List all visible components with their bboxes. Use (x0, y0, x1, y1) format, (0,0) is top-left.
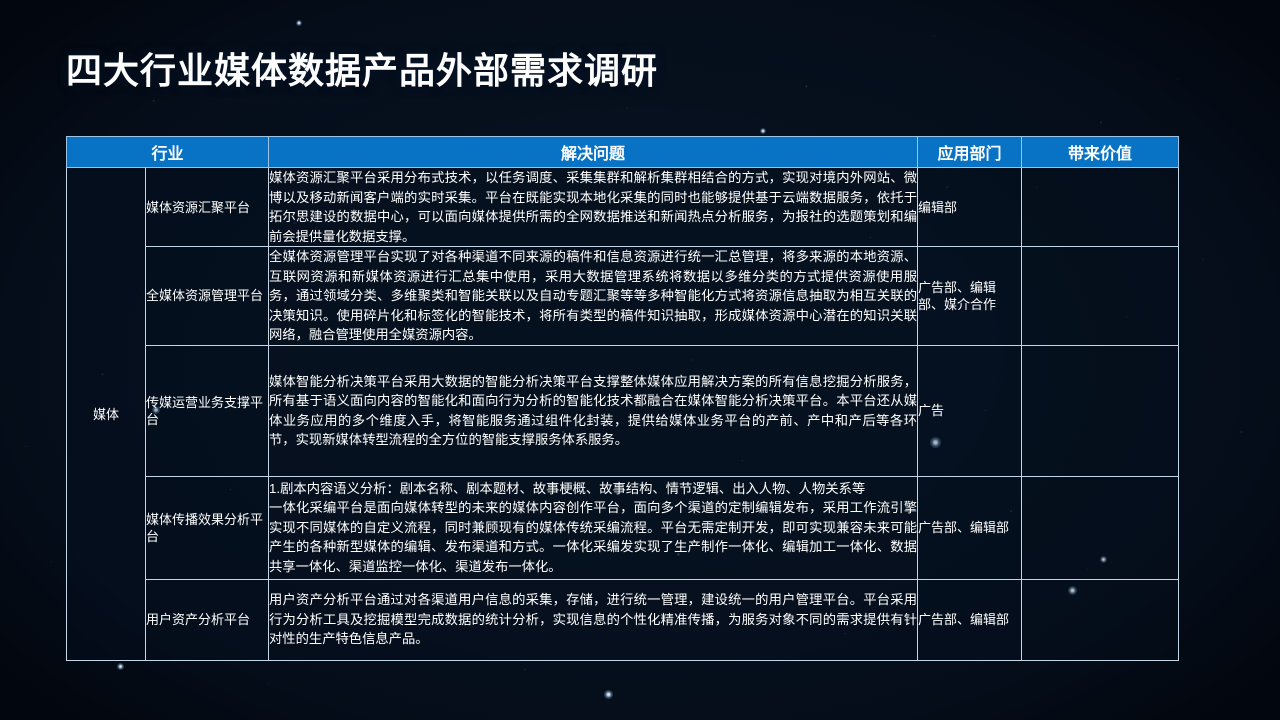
bright-star (760, 128, 766, 134)
bright-star (604, 690, 613, 699)
cell-value (1022, 247, 1179, 346)
slide-canvas: 四大行业媒体数据产品外部需求调研 行业 解决问题 应用部门 带来价值 媒体 媒体… (0, 0, 1280, 720)
cell-department: 广告部、编辑部 (918, 476, 1022, 579)
cell-department: 编辑部 (918, 168, 1022, 247)
cell-department: 广告部、编辑部 (918, 579, 1022, 660)
page-title: 四大行业媒体数据产品外部需求调研 (66, 42, 658, 94)
requirements-table: 行业 解决问题 应用部门 带来价值 媒体 媒体资源汇聚平台 媒体资源汇聚平台采用… (66, 136, 1179, 661)
cell-value (1022, 476, 1179, 579)
table-row: 全媒体资源管理平台 全媒体资源管理平台实现了对各种渠道不同来源的稿件和信息资源进… (67, 247, 1179, 346)
cell-platform: 媒体传播效果分析平台 (146, 476, 269, 579)
header-value: 带来价值 (1022, 137, 1179, 168)
cell-value (1022, 168, 1179, 247)
table-row: 传媒运营业务支撑平台 媒体智能分析决策平台采用大数据的智能分析决策平台支撑整体媒… (67, 345, 1179, 476)
cell-platform: 媒体资源汇聚平台 (146, 168, 269, 247)
cell-platform: 全媒体资源管理平台 (146, 247, 269, 346)
header-industry: 行业 (67, 137, 269, 168)
table-row: 媒体 媒体资源汇聚平台 媒体资源汇聚平台采用分布式技术，以任务调度、采集集群和解… (67, 168, 1179, 247)
cell-department: 广告部、编辑部、媒介合作 (918, 247, 1022, 346)
cell-solution: 媒体资源汇聚平台采用分布式技术，以任务调度、采集集群和解析集群相结合的方式，实现… (269, 168, 918, 247)
bright-star (117, 663, 124, 670)
cell-platform: 传媒运营业务支撑平台 (146, 345, 269, 476)
cell-value (1022, 345, 1179, 476)
cell-solution: 全媒体资源管理平台实现了对各种渠道不同来源的稿件和信息资源进行统一汇总管理，将多… (269, 247, 918, 346)
cell-value (1022, 579, 1179, 660)
cell-solution-body: 一体化采编平台是面向媒体转型的未来的媒体内容创作平台，面向多个渠道的定制编辑发布… (269, 500, 917, 574)
cell-industry: 媒体 (67, 168, 146, 661)
cell-solution: 媒体智能分析决策平台采用大数据的智能分析决策平台支撑整体媒体应用解决方案的所有信… (269, 345, 918, 476)
bright-star (296, 20, 302, 26)
cell-solution-first-line: 1.剧本内容语义分析：剧本名称、剧本题材、故事梗概、故事结构、情节逻辑、出入人物… (269, 479, 917, 499)
table-row: 用户资产分析平台 用户资产分析平台通过对各渠道用户信息的采集，存储，进行统一管理… (67, 579, 1179, 660)
cell-department: 广告 (918, 345, 1022, 476)
header-department: 应用部门 (918, 137, 1022, 168)
cell-solution: 1.剧本内容语义分析：剧本名称、剧本题材、故事梗概、故事结构、情节逻辑、出入人物… (269, 476, 918, 579)
table-header-row: 行业 解决问题 应用部门 带来价值 (67, 137, 1179, 168)
table-row: 媒体传播效果分析平台 1.剧本内容语义分析：剧本名称、剧本题材、故事梗概、故事结… (67, 476, 1179, 579)
header-solution: 解决问题 (269, 137, 918, 168)
cell-solution: 用户资产分析平台通过对各渠道用户信息的采集，存储，进行统一管理，建设统一的用户管… (269, 579, 918, 660)
cell-platform: 用户资产分析平台 (146, 579, 269, 660)
